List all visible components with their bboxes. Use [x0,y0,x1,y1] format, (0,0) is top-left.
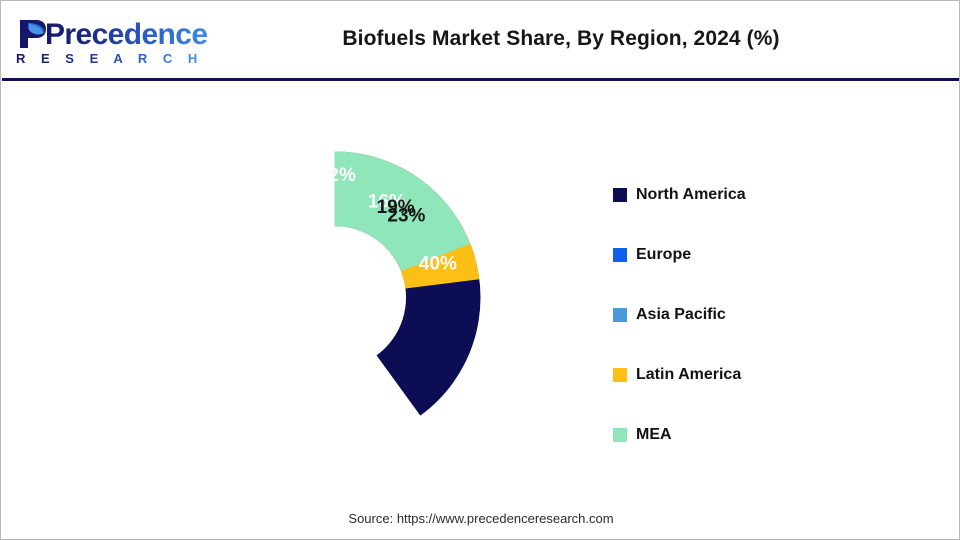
donut-chart: 40%16%2%23%19% [187,150,482,445]
donut-slice-label: 19% [377,197,415,218]
legend-swatch-icon [613,248,627,262]
legend-item[interactable]: Latin America [613,345,913,405]
donut-slice-label: 40% [419,253,457,274]
legend-item[interactable]: Asia Pacific [613,285,913,345]
chart-canvas: Precedence R E S E A R C H Biofuels Mark… [0,0,960,540]
header-divider [2,78,959,81]
source-note: Source: https://www.precedenceresearch.c… [1,511,960,526]
brand-logo-wordmark: Precedence [45,18,207,52]
legend-item-label: North America [636,186,746,204]
legend-item[interactable]: Europe [613,225,913,285]
legend-item-label: Latin America [636,366,741,384]
legend-swatch-icon [613,308,627,322]
legend-swatch-icon [613,428,627,442]
legend-item-label: Europe [636,246,691,264]
legend-item[interactable]: North America [613,165,913,225]
donut-slice-group [335,152,481,416]
legend-swatch-icon [613,368,627,382]
brand-logo-subtitle: R E S E A R C H [16,51,203,66]
chart-legend: North AmericaEuropeAsia PacificLatin Ame… [613,165,913,465]
header: Precedence R E S E A R C H Biofuels Mark… [1,1,959,79]
legend-item-label: MEA [636,426,672,444]
donut-slice-label: 2% [328,165,356,186]
donut-chart-svg: 40%16%2%23%19% [187,150,482,445]
legend-swatch-icon [613,188,627,202]
legend-item[interactable]: MEA [613,405,913,465]
chart-title: Biofuels Market Share, By Region, 2024 (… [201,27,921,51]
brand-logo: Precedence R E S E A R C H [15,18,190,68]
legend-item-label: Asia Pacific [636,306,726,324]
